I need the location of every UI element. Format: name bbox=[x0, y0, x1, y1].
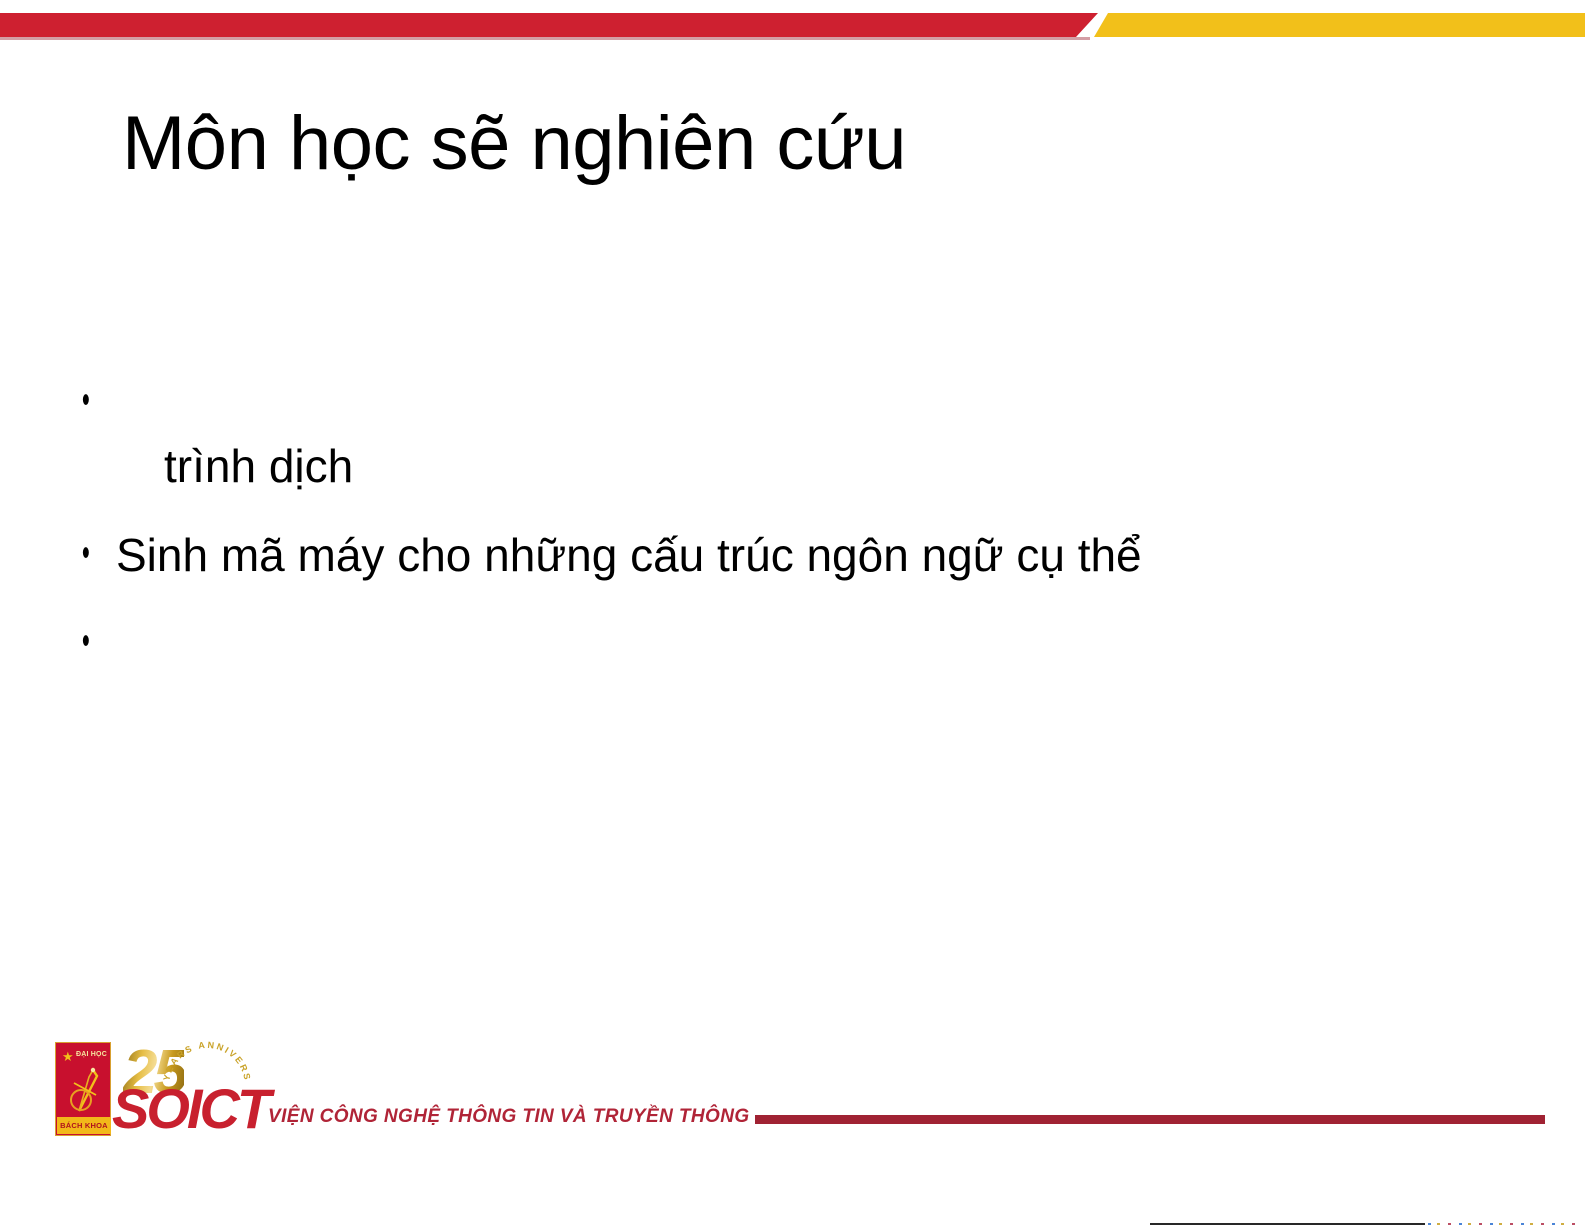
top-bar-yellow-segment bbox=[1094, 13, 1585, 37]
compass-icon bbox=[67, 1067, 103, 1117]
footer-divider-rule bbox=[755, 1115, 1545, 1124]
bullet-text-1-first-line bbox=[116, 368, 1502, 434]
top-bar-red-segment bbox=[0, 13, 1098, 37]
list-item: • trình dịch bbox=[82, 368, 1502, 499]
bullet-text-3 bbox=[116, 613, 1502, 614]
hust-emblem-logo: ★ ĐẠI HỌC BÁCH KHOA bbox=[55, 1042, 111, 1136]
bullet-text-2: Sinh mã máy cho những cấu trúc ngôn ngữ … bbox=[116, 523, 1502, 588]
bullet-text-1-wrapped-line: trình dịch bbox=[116, 434, 1502, 499]
list-item: • Sinh mã máy cho những cấu trúc ngôn ng… bbox=[82, 523, 1502, 588]
bullet-marker-icon: • bbox=[82, 613, 101, 661]
slide-title: Môn học sẽ nghiên cứu bbox=[122, 104, 1422, 184]
svg-text:YEARS ANNIVERSARY: YEARS ANNIVERSARY bbox=[159, 1038, 253, 1082]
emblem-band: BÁCH KHOA bbox=[57, 1117, 111, 1134]
emblem-top-text: ĐẠI HỌC bbox=[76, 1051, 107, 1058]
list-item: • bbox=[82, 613, 1502, 661]
top-decorative-bar bbox=[0, 13, 1585, 37]
footer-tagline: VIỆN CÔNG NGHỆ THÔNG TIN VÀ TRUYỀN THÔNG bbox=[268, 1106, 750, 1128]
bullet-list: • trình dịch • Sinh mã máy cho những cấu… bbox=[82, 368, 1502, 661]
slide: Môn học sẽ nghiên cứu • trình dịch • Sin… bbox=[0, 0, 1585, 1225]
bullet-marker-icon: • bbox=[82, 523, 101, 573]
soict-wordmark: SOICT bbox=[112, 1081, 268, 1137]
bullet-text-1: trình dịch bbox=[116, 368, 1502, 499]
emblem-band-text: BÁCH KHOA bbox=[60, 1121, 108, 1130]
top-bar-shadow bbox=[0, 37, 1090, 40]
bullet-marker-icon: • bbox=[82, 368, 101, 420]
